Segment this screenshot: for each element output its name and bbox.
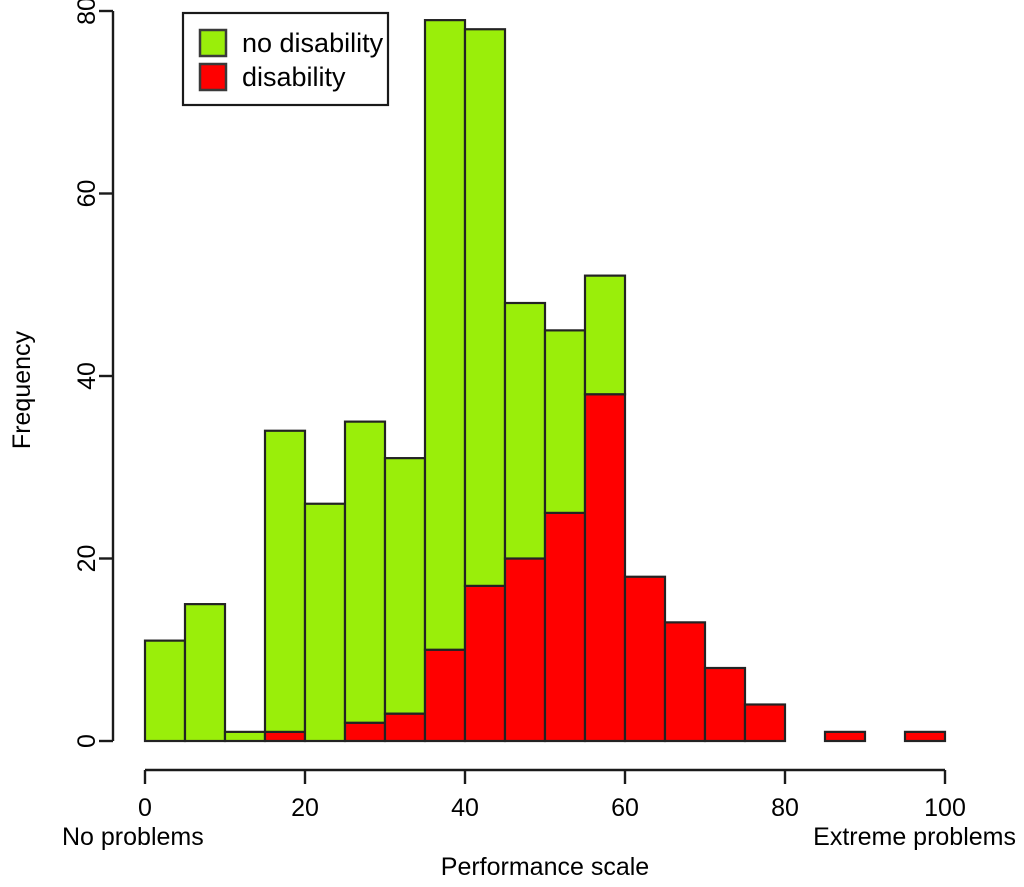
y-axis: 020406080 [73,0,113,748]
bar-segment-disability [665,622,705,741]
histogram-bar [585,276,625,741]
bar-segment-no-disability [465,29,505,586]
histogram-bar [265,431,305,741]
bar-segment-disability [425,650,465,741]
histogram-bar [665,622,705,741]
x-tick-label: 80 [771,794,799,822]
bar-segment-disability [385,714,425,741]
bar-segment-disability [705,668,745,741]
bars-layer [145,20,945,741]
legend-label-disability: disability [242,62,346,92]
bar-segment-no-disability [585,276,625,395]
x-tick-label: 60 [611,794,639,822]
bar-segment-disability [905,732,945,741]
bar-segment-disability [465,586,505,741]
histogram-bar [745,705,785,742]
x-axis: 020406080100 [138,770,966,822]
bar-segment-disability [505,559,545,742]
bar-segment-disability [545,513,585,741]
x-tick-label: 40 [451,794,479,822]
bar-segment-disability [265,732,305,741]
bar-segment-disability [345,723,385,741]
bar-segment-no-disability [545,330,585,513]
x-tick-label: 100 [924,794,966,822]
histogram-bar [305,504,345,741]
histogram-bar [185,604,225,741]
bar-segment-no-disability [265,431,305,732]
legend-swatch-disability [200,64,226,90]
bar-segment-no-disability [425,20,465,650]
histogram-bar [505,303,545,741]
x-tick-label: 20 [291,794,319,822]
bar-segment-no-disability [225,732,265,741]
bar-segment-no-disability [505,303,545,559]
y-axis-title: Frequency [8,330,36,449]
histogram-bar [225,732,265,741]
y-tick-label: 40 [73,362,101,390]
left-anchor-label: No problems [62,823,204,851]
histogram-bar [705,668,745,741]
bar-segment-disability [745,705,785,742]
y-tick-label: 80 [73,0,101,25]
histogram-bar [425,20,465,741]
x-axis-title: Performance scale [441,853,649,881]
legend-swatch-no-disability [200,30,226,56]
histogram-bar [625,577,665,741]
y-tick-label: 0 [73,734,101,748]
bar-segment-no-disability [185,604,225,741]
bar-segment-no-disability [305,504,345,741]
bar-segment-no-disability [385,458,425,714]
histogram-bar [825,732,865,741]
legend-label-no-disability: no disability [242,28,384,58]
bar-segment-no-disability [345,422,385,723]
x-tick-label: 0 [138,794,152,822]
histogram-figure: 020406080 020406080100 FrequencyPerforma… [0,0,1024,887]
y-tick-label: 20 [73,545,101,573]
bar-segment-no-disability [145,641,185,741]
y-tick-label: 60 [73,180,101,208]
histogram-bar [385,458,425,741]
histogram-bar [905,732,945,741]
legend: no disabilitydisability [183,13,388,105]
bar-segment-disability [825,732,865,741]
histogram-bar [145,641,185,741]
chart-svg: 020406080 020406080100 FrequencyPerforma… [0,0,1024,887]
bar-segment-disability [585,394,625,741]
right-anchor-label: Extreme problems [813,823,1016,851]
bar-segment-disability [625,577,665,741]
histogram-bar [465,29,505,741]
legend-item: disability [200,62,346,92]
histogram-bar [545,330,585,741]
histogram-bar [345,422,385,741]
